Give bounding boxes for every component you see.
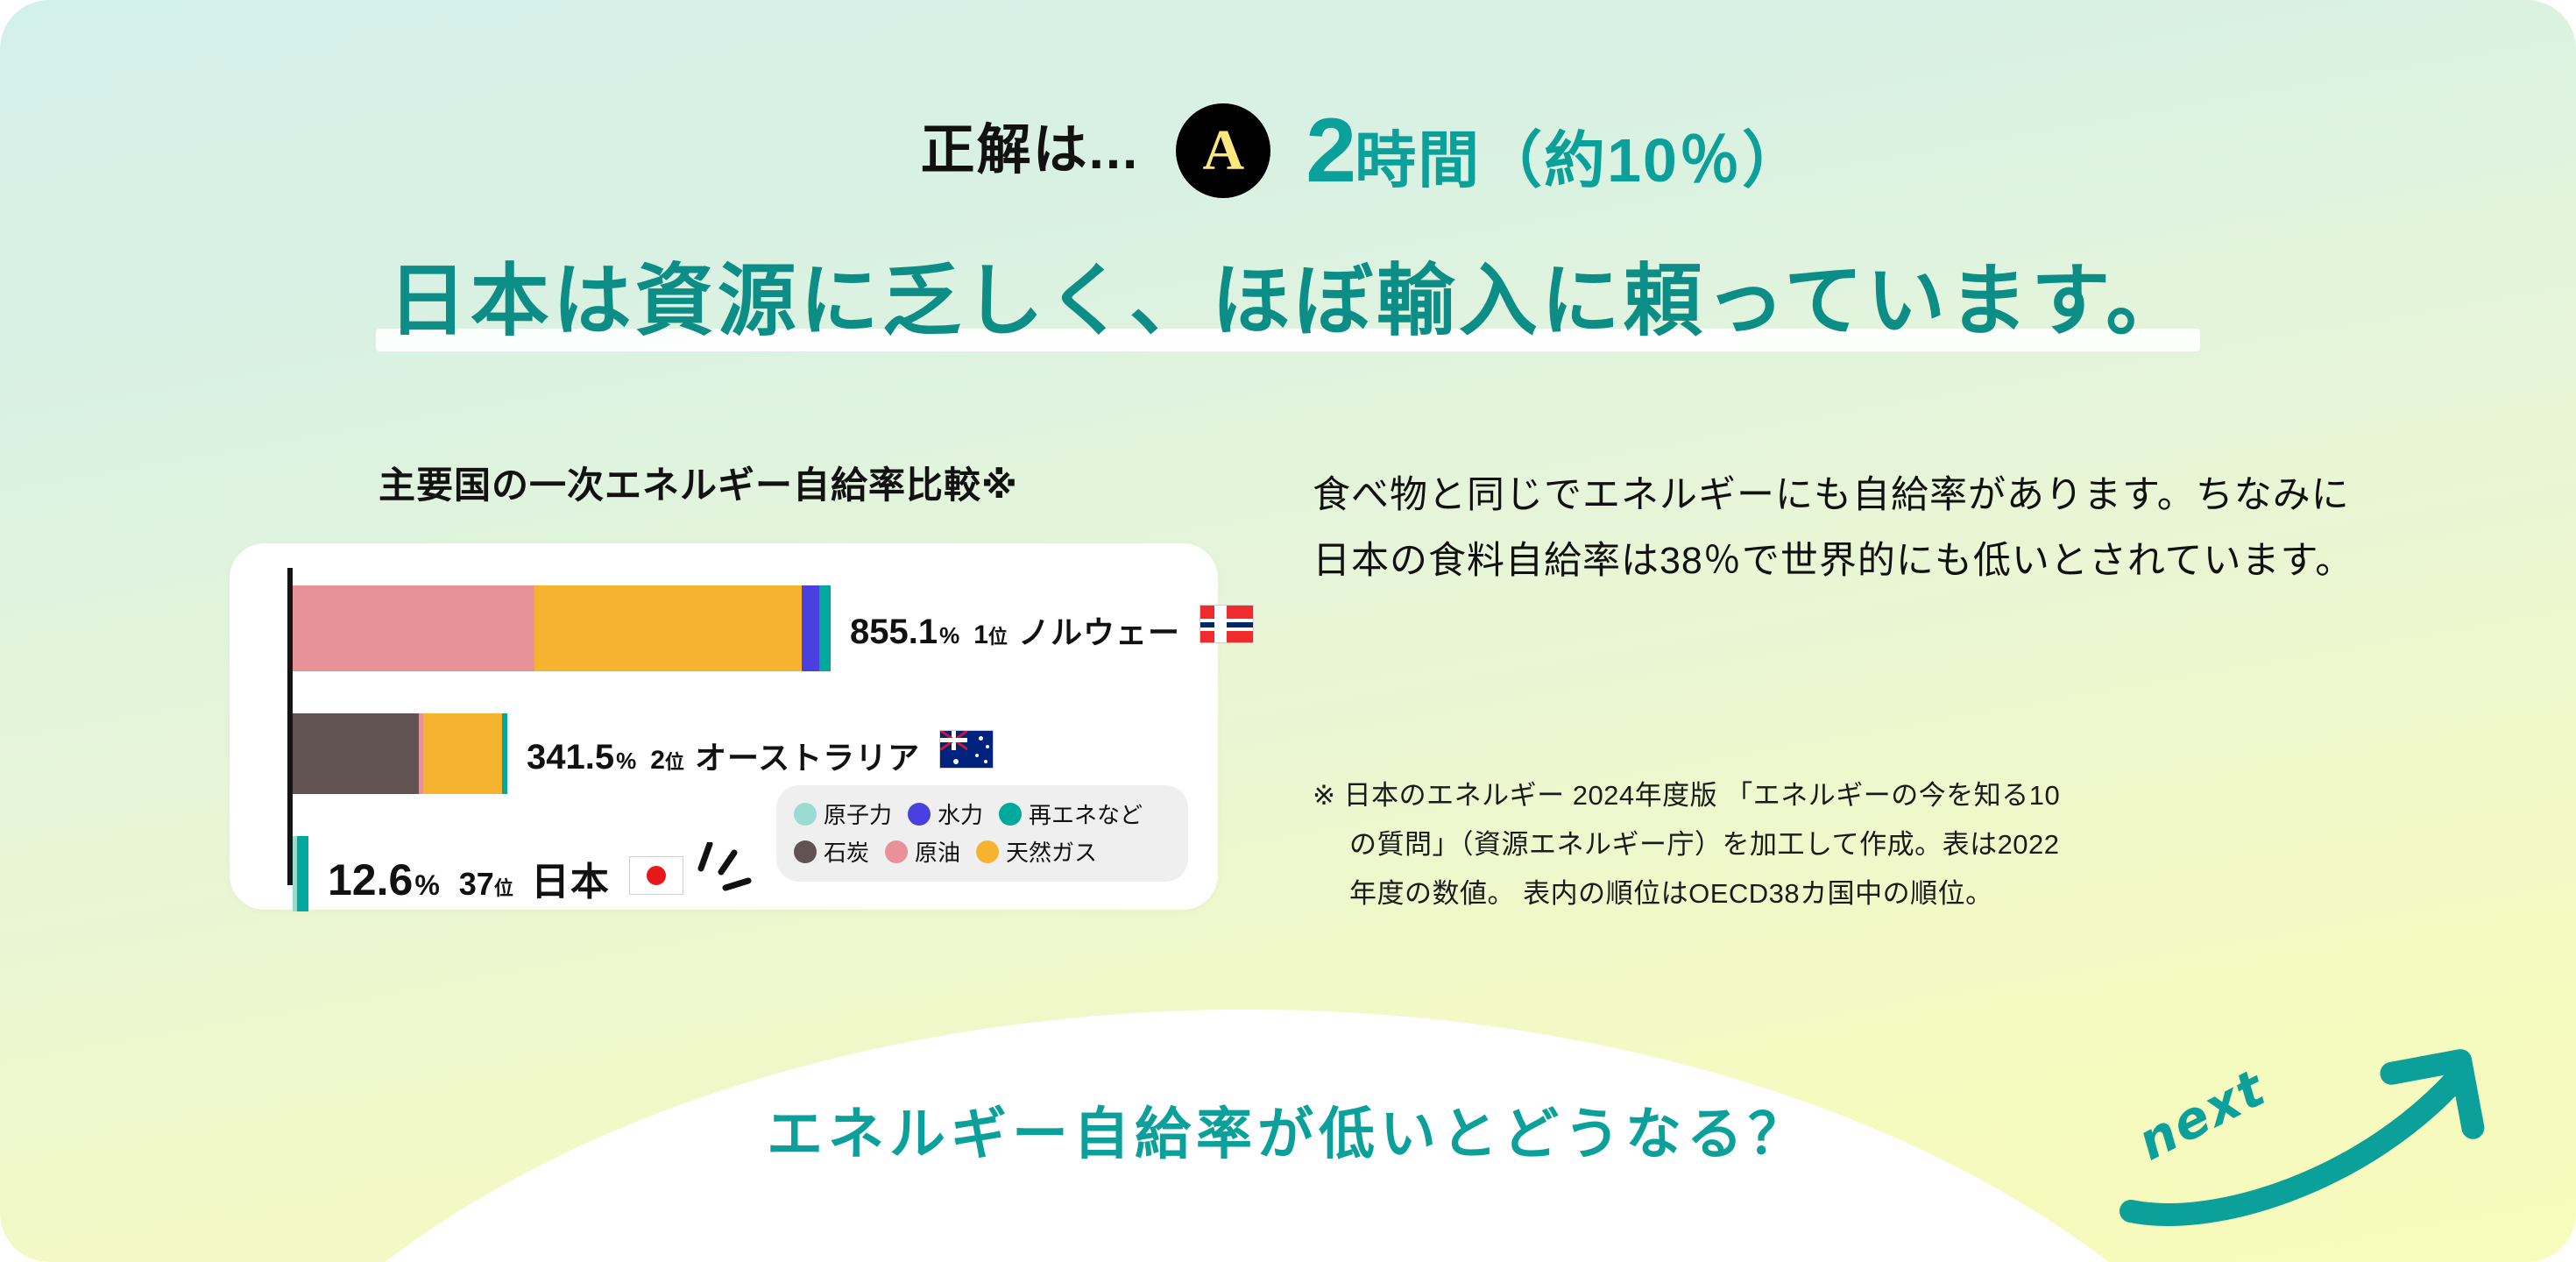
headline-wrap: 日本は資源に乏しく、ほぼ輸入に頼っています。 xyxy=(0,252,2576,357)
headline-text: 日本は資源に乏しく、ほぼ輸入に頼っています。 xyxy=(388,258,2189,345)
page-headline: 日本は資源に乏しく、ほぼ輸入に頼っています。 xyxy=(376,252,2201,357)
answer-prefix-label: 正解は... xyxy=(921,124,1140,178)
legend-row-top: 原子力 水力 再エネなど xyxy=(794,798,1172,830)
next-navigation[interactable]: next xyxy=(2112,1008,2515,1236)
flag-australia-icon xyxy=(939,730,994,769)
footnote: ※ 日本のエネルギー 2024年度版 「エネルギーの今を知る10 の質問」（資源… xyxy=(1313,771,2390,918)
bar-country-japan: 日本 xyxy=(531,850,610,906)
legend-dot-nuclear-icon xyxy=(794,803,817,826)
emphasis-marks-icon xyxy=(683,842,757,895)
legend-item-hydro: 水力 xyxy=(908,798,983,830)
chart-card: 855.1 % 1 位 ノルウェー 341.5 % 2 位 オーストラリア xyxy=(230,543,1218,910)
chart-bar-row-norway: 855.1 % 1 位 ノルウェー xyxy=(293,585,1254,671)
legend-label-hydro: 水力 xyxy=(938,798,983,830)
footnote-line-1: ※ 日本のエネルギー 2024年度版 「エネルギーの今を知る10 xyxy=(1313,771,2390,820)
bar-segment-natural-gas xyxy=(423,713,501,794)
bar-meta-australia: 341.5 % 2 位 オーストラリア xyxy=(527,730,994,778)
stacked-bar-norway xyxy=(293,585,831,671)
footnote-line-3: 年度の数値。 表内の順位はOECD38カ国中の順位。 xyxy=(1313,869,2390,918)
legend-item-nuclear: 原子力 xyxy=(794,798,892,830)
legend-dot-coal-icon xyxy=(794,840,817,863)
legend-dot-hydro-icon xyxy=(908,803,931,826)
bar-meta-japan: 12.6 % 37 位 日本 xyxy=(328,842,757,906)
legend-label-coal: 石炭 xyxy=(824,835,869,868)
bar-segment-coal xyxy=(293,713,419,794)
bar-segment-natural-gas xyxy=(534,585,802,671)
bar-rank-norway: 1 xyxy=(973,620,988,650)
chart-title: 主要国の一次エネルギー自給率比較※ xyxy=(379,456,1018,509)
bar-rank-suffix-japan: 位 xyxy=(494,873,513,901)
answer-unit: 時間（約10％） xyxy=(1355,130,1805,191)
answer-header-row: 正解は... A 2 時間（約10％） xyxy=(0,103,1805,198)
bar-rank-australia: 2 xyxy=(650,746,665,776)
flag-japan-icon xyxy=(629,856,683,895)
infographic-card: 正解は... A 2 時間（約10％） 日本は資源に乏しく、ほぼ輸入に頼っていま… xyxy=(0,0,2576,1262)
cta-question-text: エネルギー自給率が低いとどうなる？ xyxy=(767,1106,1809,1162)
flag-norway-icon xyxy=(1200,605,1254,643)
legend-label-natural-gas: 天然ガス xyxy=(1006,835,1097,868)
answer-number: 2 xyxy=(1306,105,1355,196)
chart-legend: 原子力 水力 再エネなど 石炭 原油 xyxy=(776,785,1188,882)
stacked-bar-australia xyxy=(293,713,507,794)
bar-value-norway: 855.1 xyxy=(850,613,938,652)
chart-bar-row-japan: 12.6 % 37 位 日本 xyxy=(293,836,757,911)
legend-row-bottom: 石炭 原油 天然ガス xyxy=(794,835,1172,868)
bar-country-norway: ノルウェー xyxy=(1018,607,1180,653)
bar-rank-suffix-norway: 位 xyxy=(988,621,1008,649)
bar-value-australia: 341.5 xyxy=(527,738,614,777)
legend-dot-oil-icon xyxy=(885,840,908,863)
bar-segment-renewables xyxy=(819,585,831,671)
chart-bar-row-australia: 341.5 % 2 位 オーストラリア xyxy=(293,713,994,794)
bar-rank-suffix-australia: 位 xyxy=(665,747,684,775)
legend-item-renewables: 再エネなど xyxy=(999,798,1143,830)
bar-value-sign-japan: % xyxy=(414,869,439,902)
bar-segment-renewables xyxy=(297,836,308,911)
legend-item-coal: 石炭 xyxy=(794,835,869,868)
bar-value-sign-australia: % xyxy=(616,748,636,775)
legend-item-natural-gas: 天然ガス xyxy=(976,835,1097,868)
legend-item-oil: 原油 xyxy=(885,835,960,868)
answer-value: 2 時間（約10％） xyxy=(1306,105,1805,196)
footnote-line-2: の質問」（資源エネルギー庁）を加工して作成。表は2022 xyxy=(1313,820,2390,869)
legend-label-oil: 原油 xyxy=(915,835,960,868)
legend-label-nuclear: 原子力 xyxy=(824,798,892,830)
bar-segment-hydro xyxy=(802,585,819,671)
legend-dot-renewables-icon xyxy=(999,803,1022,826)
bar-segment-renewables xyxy=(502,713,507,794)
bar-segment-oil xyxy=(293,585,534,671)
bar-value-japan: 12.6 xyxy=(328,854,413,905)
bar-country-australia: オーストラリア xyxy=(695,733,920,778)
legend-dot-natural-gas-icon xyxy=(976,840,999,863)
bar-rank-japan: 37 xyxy=(459,866,494,903)
bar-value-sign-norway: % xyxy=(939,622,959,649)
answer-badge: A xyxy=(1176,103,1270,198)
answer-badge-letter: A xyxy=(1202,122,1244,180)
legend-label-renewables: 再エネなど xyxy=(1029,798,1143,830)
stacked-bar-japan xyxy=(293,836,308,911)
bar-meta-norway: 855.1 % 1 位 ノルウェー xyxy=(850,605,1254,653)
body-paragraph: 食べ物と同じでエネルギーにも自給率があります。ちなみに日本の食料自給率は38％で… xyxy=(1313,463,2364,595)
